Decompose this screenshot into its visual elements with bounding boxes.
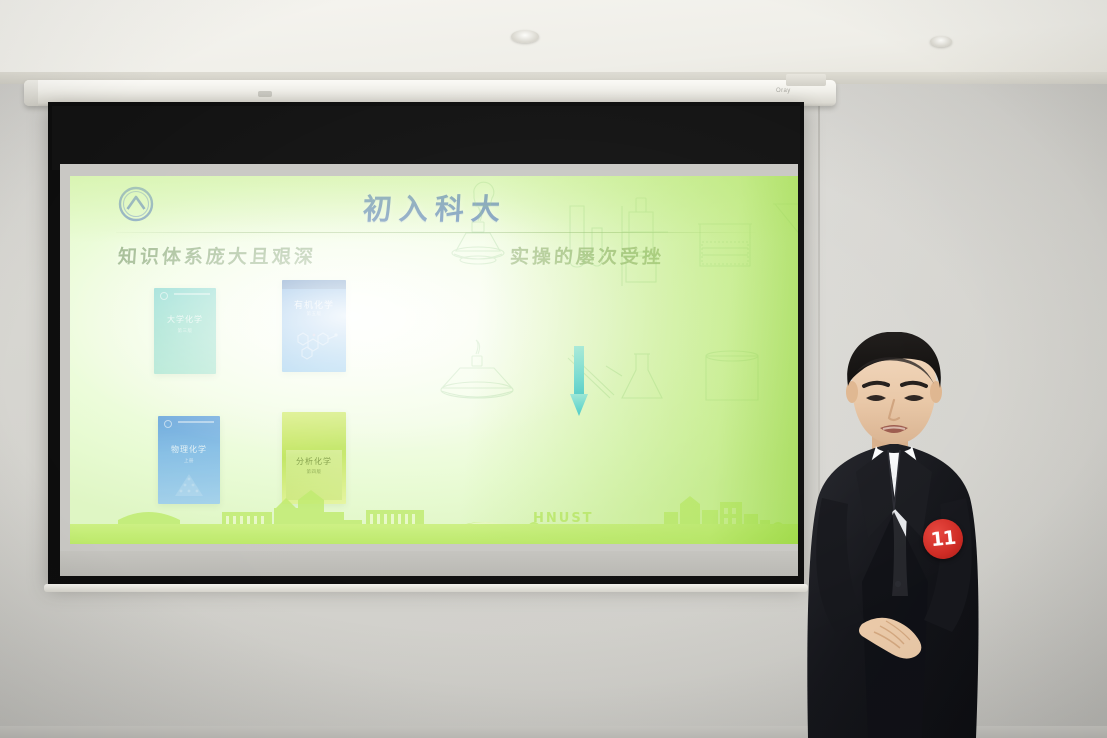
book-emblem-icon	[160, 292, 168, 300]
conical-flask-icon	[622, 354, 662, 398]
round-flask-icon	[441, 340, 513, 398]
book-subtitle: 第四版	[282, 469, 346, 475]
book-subtitle: 第五版	[282, 311, 346, 317]
book-title: 大学化学	[154, 314, 216, 325]
book-header-bar	[174, 293, 210, 295]
skyline-ground-band	[70, 524, 798, 544]
subtitle-left: 知识体系庞大且艰深	[117, 242, 317, 269]
book-subtitle: 上册	[158, 458, 220, 464]
ceiling-downlight-left	[511, 30, 539, 43]
subtitle-right: 实操的屡次受挫	[509, 242, 665, 269]
book-top-band	[282, 280, 346, 289]
presenter-person: 11	[790, 332, 1030, 738]
campus-skyline-silhouette: HNUST	[70, 482, 798, 544]
roller-brand-text: Oray	[776, 88, 791, 94]
book-emblem-icon	[164, 420, 172, 428]
roller-logo-mark	[258, 91, 272, 97]
projector-screen-surface[interactable]: 初入科大 知识体系庞大且艰深 实操的屡次受挫 大学化学 第三版 有机化学 第五版	[60, 164, 798, 576]
skyline-label-hnust: HNUST	[533, 511, 594, 526]
jacket-button	[895, 581, 901, 587]
screen-bottom-bar-weight	[44, 584, 808, 592]
presentation-scene: Oray 初入科大 知识体系庞大且艰深 实操的屡次受挫	[0, 0, 1107, 738]
book-cover-university-chemistry: 大学化学 第三版	[154, 288, 216, 374]
presenter-figure	[790, 332, 1030, 738]
book-subtitle: 第三版	[154, 328, 216, 334]
projected-slide: 初入科大 知识体系庞大且艰深 实操的屡次受挫 大学化学 第三版 有机化学 第五版	[70, 176, 798, 544]
title-divider	[116, 232, 756, 233]
black-masking-band	[52, 106, 800, 170]
book-header-bar	[178, 421, 214, 423]
molecule-diagram-icon	[288, 322, 340, 362]
book-title: 分析化学	[282, 456, 346, 467]
book-title: 有机化学	[282, 298, 346, 311]
book-cover-organic-chemistry: 有机化学 第五版	[282, 280, 346, 372]
graduated-beaker-icon	[698, 224, 752, 266]
book-title: 物理化学	[158, 444, 220, 455]
slide-title: 初入科大	[70, 186, 798, 228]
beaker-icon	[706, 351, 758, 400]
screen-bottom-margin	[60, 551, 798, 576]
roller-end-cap	[24, 80, 38, 106]
down-arrow	[569, 346, 589, 418]
ceiling-downlight-right	[930, 36, 952, 47]
roller-mount-bracket	[786, 74, 826, 86]
